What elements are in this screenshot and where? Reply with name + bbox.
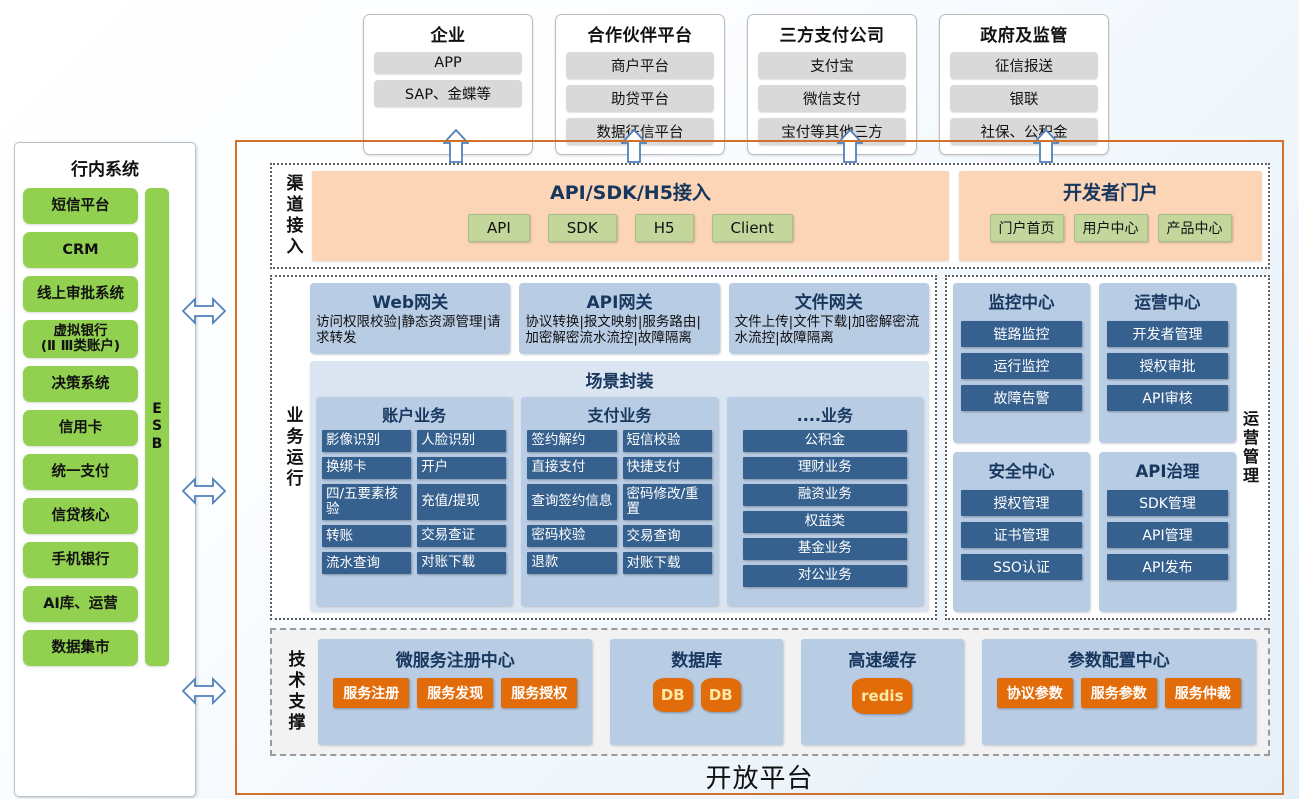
scene-encapsulation-panel: 场景封装 账户业务 影像识别 换绑卡 四/五要素核验 转账 流水查询 人脸识别 [310,361,929,612]
gateway-row: Web网关 访问权限校验|静态资源管理|请求转发 API网关 协议转换|报文映射… [310,283,929,354]
scene-chip[interactable]: 交易查询 [623,525,712,547]
scene-chip[interactable]: 对账下载 [623,552,712,574]
scene-card-column-left: 影像识别 换绑卡 四/五要素核验 转账 流水查询 [322,430,411,600]
ops-chip[interactable]: API审核 [1107,385,1228,411]
ops-chip[interactable]: SDK管理 [1107,490,1228,516]
scene-chip[interactable]: 权益类 [743,511,907,533]
scene-chip[interactable]: 直接支付 [527,457,616,479]
tech-chip-service-register[interactable]: 服务注册 [333,678,409,708]
scene-card-other-business: ....业务 公积金 理财业务 融资业务 权益类 基金业务 对公业务 [727,397,923,606]
external-box-title: 企业 [374,21,522,46]
developer-portal-items: 门户首页 用户中心 产品中心 [990,214,1232,242]
in-bank-item-crm[interactable]: CRM [23,232,138,268]
channel-access-content: API/SDK/H5接入 API SDK H5 Client 开发者门户 门户首… [312,171,1262,261]
platform-title: 开放平台 [235,758,1284,799]
scene-chip[interactable]: 退款 [527,552,616,574]
tech-card-microservice-registry: 微服务注册中心 服务注册 服务发现 服务授权 [318,639,592,745]
ops-chip[interactable]: API管理 [1107,522,1228,548]
scene-card-grid: 影像识别 换绑卡 四/五要素核验 转账 流水查询 人脸识别 开户 充值/提现 交… [322,430,506,600]
channel-access-label: 渠道接入 [278,171,308,261]
ops-chip[interactable]: 故障告警 [961,385,1082,411]
scene-chip[interactable]: 转账 [322,525,411,547]
ops-card-operations-center: 运营中心 开发者管理 授权审批 API审核 [1099,283,1236,443]
technical-support-label: 技术支撑 [278,636,312,748]
tech-chip-service-discovery[interactable]: 服务发现 [417,678,493,708]
ops-chip[interactable]: SSO认证 [961,554,1082,580]
scene-chip[interactable]: 影像识别 [322,430,411,452]
ops-chip[interactable]: 开发者管理 [1107,321,1228,347]
ops-chip[interactable]: API发布 [1107,554,1228,580]
external-item[interactable]: 助贷平台 [566,85,714,112]
in-bank-item-online-approval[interactable]: 线上审批系统 [23,276,138,312]
scene-chip[interactable]: 四/五要素核验 [322,484,411,520]
operations-management-label-text: 运营管理 [1237,410,1261,486]
external-box-title: 合作伙伴平台 [566,21,714,46]
scene-card-grid: 公积金 理财业务 融资业务 权益类 基金业务 对公业务 [733,430,917,600]
external-item[interactable]: APP [374,52,522,74]
in-bank-item-credit-card[interactable]: 信用卡 [23,410,138,446]
access-chip-client[interactable]: Client [712,214,793,242]
scene-chip[interactable]: 快捷支付 [623,457,712,479]
operations-management-label: 运营管理 [1236,283,1262,612]
tech-chip-service-arbitration[interactable]: 服务仲裁 [1165,678,1241,708]
scene-card-column-left: 签约解约 直接支付 查询签约信息 密码校验 退款 [527,430,616,600]
in-bank-item-decision-system[interactable]: 决策系统 [23,366,138,402]
scene-chip[interactable]: 换绑卡 [322,457,411,479]
external-item[interactable]: 微信支付 [758,85,906,112]
portal-chip-product-center[interactable]: 产品中心 [1158,214,1232,242]
double-arrow-icon [182,676,226,706]
access-chip-api[interactable]: API [468,214,530,242]
scene-chip[interactable]: 流水查询 [322,552,411,574]
access-chip-h5[interactable]: H5 [635,214,694,242]
external-item[interactable]: 支付宝 [758,52,906,79]
scene-card-column-right: 短信校验 快捷支付 密码修改/重置 交易查询 对账下载 [623,430,712,600]
in-bank-body: 短信平台 CRM 线上审批系统 虚拟银行(Ⅱ Ⅲ类账户) 决策系统 信用卡 统一… [15,188,195,666]
portal-chip-user-center[interactable]: 用户中心 [1074,214,1148,242]
gateway-card-file[interactable]: 文件网关 文件上传|文件下载|加密解密流水流控|故障隔离 [729,283,929,354]
in-bank-systems-panel: 行内系统 短信平台 CRM 线上审批系统 虚拟银行(Ⅱ Ⅲ类账户) 决策系统 信… [14,142,196,797]
tech-card-chips: redis [852,678,912,714]
external-item[interactable]: 银联 [950,85,1098,112]
channel-access-band: 渠道接入 API/SDK/H5接入 API SDK H5 Client 开发者门… [270,163,1270,269]
scene-chip[interactable]: 密码修改/重置 [623,484,712,520]
developer-portal-card: 开发者门户 门户首页 用户中心 产品中心 [959,171,1262,261]
business-running-label: 业务运行 [278,283,308,612]
in-bank-item-mobile-bank[interactable]: 手机银行 [23,542,138,578]
technical-support-band: 技术支撑 微服务注册中心 服务注册 服务发现 服务授权 数据库 DB DB 高速… [270,628,1270,756]
double-arrow-icon [182,296,226,326]
tech-chip-service-authorize[interactable]: 服务授权 [501,678,577,708]
in-bank-panel-title: 行内系统 [15,155,195,180]
gateway-title: API网关 [525,288,713,313]
scene-card-title: ....业务 [733,402,917,426]
scene-chip[interactable]: 对账下载 [417,552,506,574]
scene-chip[interactable]: 交易查证 [417,525,506,547]
scene-chip[interactable]: 查询签约信息 [527,484,616,520]
scene-encapsulation-title: 场景封装 [316,367,923,392]
tech-card-high-speed-cache: 高速缓存 redis [801,639,963,745]
ops-card-security-center: 安全中心 授权管理 证书管理 SSO认证 [953,452,1090,612]
access-chip-sdk[interactable]: SDK [548,214,617,242]
gateway-title: Web网关 [316,288,504,313]
scene-chip[interactable]: 理财业务 [743,457,907,479]
api-sdk-h5-access-card: API/SDK/H5接入 API SDK H5 Client [312,171,949,261]
external-item[interactable]: 商户平台 [566,52,714,79]
scene-chip[interactable]: 人脸识别 [417,430,506,452]
scene-cards-row: 账户业务 影像识别 换绑卡 四/五要素核验 转账 流水查询 人脸识别 开户 [316,397,923,606]
scene-chip[interactable]: 密码校验 [527,525,616,547]
esb-label: ESB [152,401,163,454]
external-box-government-regulator[interactable]: 政府及监管 征信报送 银联 社保、公积金 [939,14,1109,155]
tech-card-title: 高速缓存 [848,646,916,671]
ops-card-title: API治理 [1107,458,1228,482]
portal-chip-home[interactable]: 门户首页 [990,214,1064,242]
operations-management-band: 监控中心 链路监控 运行监控 故障告警 运营中心 开发者管理 授权审批 API审… [945,275,1270,620]
external-box-third-party-payment[interactable]: 三方支付公司 支付宝 微信支付 宝付等其他三方 [747,14,917,155]
tech-card-title: 参数配置中心 [1068,646,1170,671]
in-bank-item-sms-platform[interactable]: 短信平台 [23,188,138,224]
in-bank-item-ai-ops[interactable]: AI库、运营 [23,586,138,622]
developer-portal-title: 开发者门户 [1063,178,1158,205]
external-box-title: 三方支付公司 [758,21,906,46]
tech-chip-service-params[interactable]: 服务参数 [1081,678,1157,708]
api-sdk-h5-access-items: API SDK H5 Client [468,214,793,242]
ops-card-api-governance: API治理 SDK管理 API管理 API发布 [1099,452,1236,612]
gateway-card-web[interactable]: Web网关 访问权限校验|静态资源管理|请求转发 [310,283,510,354]
tech-card-title: 数据库 [671,646,722,671]
database-cylinder-icon[interactable]: DB [653,678,693,712]
api-sdk-h5-access-title: API/SDK/H5接入 [550,178,711,205]
in-bank-item-virtual-bank[interactable]: 虚拟银行(Ⅱ Ⅲ类账户) [23,320,138,358]
ops-card-title: 运营中心 [1107,289,1228,313]
scene-chip[interactable]: 签约解约 [527,430,616,452]
ops-card-title: 安全中心 [961,458,1082,482]
scene-card-payment-business: 支付业务 签约解约 直接支付 查询签约信息 密码校验 退款 短信校验 快捷支付 [521,397,717,606]
tech-card-database: 数据库 DB DB [610,639,783,745]
tech-chip-protocol-params[interactable]: 协议参数 [997,678,1073,708]
technical-support-content: 微服务注册中心 服务注册 服务发现 服务授权 数据库 DB DB 高速缓存 re… [312,636,1262,748]
scene-chip[interactable]: 公积金 [743,430,907,452]
business-running-band: 业务运行 Web网关 访问权限校验|静态资源管理|请求转发 API网关 协议转换… [270,275,937,620]
external-item[interactable]: SAP、金蝶等 [374,80,522,107]
ops-chip[interactable]: 授权管理 [961,490,1082,516]
external-box-title: 政府及监管 [950,21,1098,46]
scene-card-title: 账户业务 [322,402,506,426]
double-arrow-icon [182,476,226,506]
tech-card-chips: DB DB [653,678,741,712]
gateway-card-api[interactable]: API网关 协议转换|报文映射|服务路由|加密解密流水流控|故障隔离 [519,283,719,354]
external-item[interactable]: 征信报送 [950,52,1098,79]
scene-card-column-left: 公积金 理财业务 融资业务 权益类 基金业务 对公业务 [733,430,917,600]
ops-card-monitoring-center: 监控中心 链路监控 运行监控 故障告警 [953,283,1090,443]
scene-card-column-right: 人脸识别 开户 充值/提现 交易查证 对账下载 [417,430,506,600]
ops-card-title: 监控中心 [961,289,1082,313]
in-bank-item-data-mart[interactable]: 数据集市 [23,630,138,666]
scene-chip[interactable]: 开户 [417,457,506,479]
scene-card-title: 支付业务 [527,402,711,426]
ops-chip[interactable]: 证书管理 [961,522,1082,548]
ops-chip[interactable]: 运行监控 [961,353,1082,379]
technical-support-label-text: 技术支撑 [283,650,308,734]
in-bank-item-list: 短信平台 CRM 线上审批系统 虚拟银行(Ⅱ Ⅲ类账户) 决策系统 信用卡 统一… [23,188,138,666]
database-cylinder-icon[interactable]: DB [701,678,741,712]
channel-access-label-text: 渠道接入 [281,174,306,258]
gateway-desc: 访问权限校验|静态资源管理|请求转发 [316,315,504,347]
tech-card-chips: 协议参数 服务参数 服务仲裁 [997,678,1241,708]
operations-cards-grid: 监控中心 链路监控 运行监控 故障告警 运营中心 开发者管理 授权审批 API审… [953,283,1236,612]
scene-chip[interactable]: 短信校验 [623,430,712,452]
business-running-label-text: 业务运行 [281,406,306,490]
scene-chip[interactable]: 基金业务 [743,538,907,560]
scene-chip[interactable]: 对公业务 [743,565,907,587]
scene-chip[interactable]: 融资业务 [743,484,907,506]
ops-chip[interactable]: 授权审批 [1107,353,1228,379]
scene-chip[interactable]: 充值/提现 [417,484,506,520]
tech-card-chips: 服务注册 服务发现 服务授权 [333,678,577,708]
scene-card-grid: 签约解约 直接支付 查询签约信息 密码校验 退款 短信校验 快捷支付 密码修改/… [527,430,711,600]
in-bank-item-unified-payment[interactable]: 统一支付 [23,454,138,490]
ops-chip[interactable]: 链路监控 [961,321,1082,347]
gateway-title: 文件网关 [735,288,923,313]
external-systems-row: 企业 APP SAP、金蝶等 合作伙伴平台 商户平台 助贷平台 数据征信平台 三… [363,14,1109,155]
esb-bus: ESB [145,188,169,666]
business-running-content: Web网关 访问权限校验|静态资源管理|请求转发 API网关 协议转换|报文映射… [308,283,929,612]
gateway-desc: 文件上传|文件下载|加密解密流水流控|故障隔离 [735,315,923,347]
gateway-desc: 协议转换|报文映射|服务路由|加密解密流水流控|故障隔离 [525,315,713,347]
tech-card-title: 微服务注册中心 [396,646,515,671]
redis-cylinder-icon[interactable]: redis [852,678,912,714]
scene-card-account-business: 账户业务 影像识别 换绑卡 四/五要素核验 转账 流水查询 人脸识别 开户 [316,397,512,606]
tech-card-parameter-config-center: 参数配置中心 协议参数 服务参数 服务仲裁 [982,639,1256,745]
in-bank-item-credit-core[interactable]: 信贷核心 [23,498,138,534]
